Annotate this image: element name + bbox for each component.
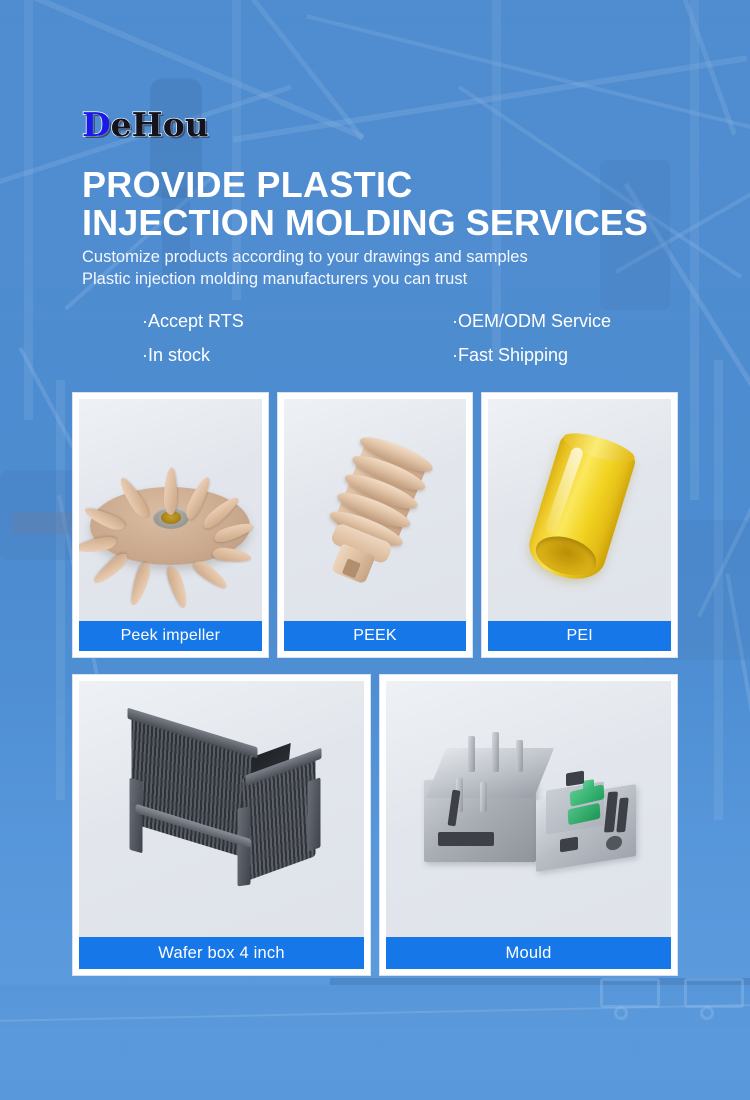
subtitle-line-2: Plastic injection molding manufacturers … [82,268,528,290]
peek-worm-gear-photo [284,399,467,621]
product-card-mould[interactable]: Mould [379,674,678,976]
subtitle-line-1: Customize products according to your dra… [82,246,528,268]
pei-tube-photo [488,399,671,621]
injection-mould-photo [386,681,671,937]
logo-initial: D [82,105,111,144]
feature-item-fast-shipping: ·Fast Shipping [452,344,662,366]
product-card-pei[interactable]: PEI [481,392,678,658]
company-logo: DeHou [82,108,209,141]
feature-item-oem-odm: ·OEM/ODM Service [452,310,662,332]
product-card-wafer-box[interactable]: Wafer box 4 inch [72,674,371,976]
product-label-mould: Mould [386,937,671,969]
headline-line-1: PROVIDE PLASTIC [82,166,648,204]
product-label-wafer-box: Wafer box 4 inch [79,937,364,969]
subtitle: Customize products according to your dra… [82,246,528,290]
page-title: PROVIDE PLASTIC INJECTION MOLDING SERVIC… [82,166,648,242]
product-label-peek-impeller: Peek impeller [79,621,262,651]
wafer-box-photo [79,681,364,937]
feature-item-in-stock: ·In stock [142,344,452,366]
product-card-peek-impeller[interactable]: Peek impeller [72,392,269,658]
product-grid-row-1: Peek impeller PEEK [72,392,678,658]
peek-impeller-photo [79,399,262,621]
product-grid-row-2: Wafer box 4 inch [72,674,678,976]
product-label-pei: PEI [488,621,671,651]
feature-item-accept-rts: ·Accept RTS [142,310,452,332]
promo-banner: DeHou PROVIDE PLASTIC INJECTION MOLDING … [0,0,750,1100]
headline-line-2: INJECTION MOLDING SERVICES [82,204,648,242]
product-label-peek: PEEK [284,621,467,651]
logo-wordmark: eHou [111,105,209,144]
product-card-peek[interactable]: PEEK [277,392,474,658]
feature-list: ·Accept RTS ·OEM/ODM Service ·In stock ·… [142,310,662,366]
